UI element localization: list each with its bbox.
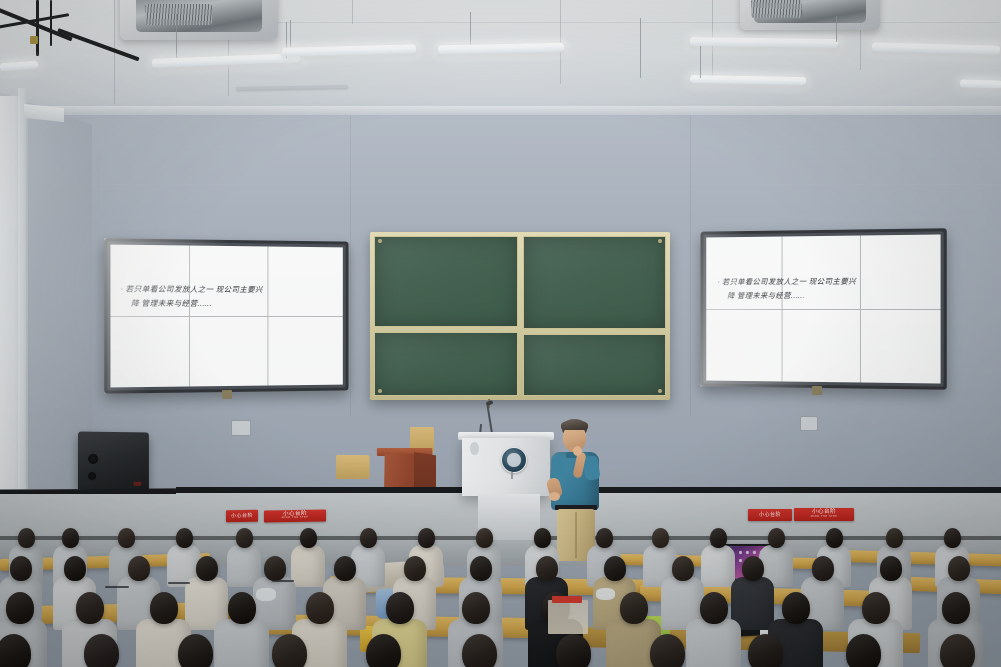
audience-member-head	[846, 634, 881, 667]
audience-member-head	[128, 556, 150, 581]
audience-member-head	[462, 592, 490, 624]
wall-seam	[98, 150, 99, 410]
video-wall-panel	[110, 245, 189, 316]
fluorescent-tube-light	[960, 79, 1001, 88]
blackboard[interactable]	[370, 232, 670, 400]
audience-member-head	[534, 528, 551, 548]
audience-member-head	[366, 634, 401, 667]
audience-member-head	[64, 556, 86, 581]
eyeglasses	[272, 580, 294, 582]
audience-member-head	[604, 556, 626, 581]
audience-member-head	[228, 592, 256, 624]
audience-member-head	[652, 528, 669, 548]
audience-member-head	[700, 592, 728, 624]
step-sign-text: 小心台阶	[759, 513, 781, 518]
presenter-hair-top	[561, 420, 588, 430]
audience-member-head	[536, 556, 558, 581]
wall-outlet-plate	[231, 420, 251, 436]
audience-member-head	[300, 528, 317, 548]
audience-member-head	[84, 634, 119, 667]
tshirt-graphic-band	[552, 596, 582, 603]
eyeglasses	[105, 586, 129, 588]
audience-member-head	[948, 556, 970, 581]
video-wall-panel	[783, 309, 860, 382]
audience-member-head	[236, 528, 253, 548]
blackboard-panel	[523, 334, 667, 397]
audience-member-head	[62, 528, 79, 548]
audience-member-head	[76, 592, 104, 624]
wall-seam	[950, 140, 951, 430]
screen-mount-bracket	[222, 390, 232, 399]
wall-seam	[350, 116, 351, 416]
mind-the-step-sign: 小心台阶 MIND THE STEP	[264, 509, 326, 522]
audience-member-head	[418, 528, 435, 548]
audience-member-body	[701, 545, 735, 587]
audience-member-head	[880, 556, 902, 581]
floor-loudspeaker	[78, 432, 149, 495]
audience-member-head	[768, 528, 785, 548]
rod-bracket	[30, 36, 38, 44]
blackboard-panel	[523, 236, 667, 329]
audience-member-head	[556, 634, 591, 667]
audience-member-head	[178, 634, 213, 667]
audience-member-head	[118, 528, 135, 548]
audience-member-head	[742, 556, 764, 581]
audience-member-head	[862, 592, 890, 624]
wall-seam	[0, 184, 1001, 185]
video-wall-panel	[861, 310, 941, 384]
audience-member-head	[462, 634, 497, 667]
audience-member-head	[812, 556, 834, 581]
blackboard-panel	[374, 236, 518, 327]
podium-knob	[470, 442, 479, 455]
audience-member-head	[748, 634, 783, 667]
video-wall-panel	[110, 317, 189, 388]
video-wall-panel	[706, 309, 781, 381]
ceiling-rod	[36, 0, 39, 56]
audience-member-body	[291, 545, 325, 587]
presenter-hand-left	[549, 492, 560, 501]
ceiling-rod	[50, 0, 52, 46]
lecture-hall-photo: · 若只单看公司发放人之一 现公司主要兴 降 管理未来与经营…… · 若只单看公…	[0, 0, 1001, 667]
audience-member-head	[196, 556, 218, 581]
audience-member-head	[18, 528, 35, 548]
trouser-crease	[575, 512, 577, 558]
audience-member-head	[360, 528, 377, 548]
audience-member-head	[886, 528, 903, 548]
audience-member-head	[404, 556, 426, 581]
audience-member-head	[476, 528, 493, 548]
audience-member-head	[150, 592, 178, 624]
audience-member-head	[672, 556, 694, 581]
tshirt-graphic-print	[548, 600, 588, 634]
left-video-wall[interactable]: · 若只单看公司发放人之一 现公司主要兴 降 管理未来与经营……	[104, 238, 348, 393]
face-mask	[256, 588, 276, 601]
wall-outlet-plate	[800, 416, 818, 431]
video-wall-panel	[190, 246, 267, 316]
video-wall-panel	[190, 316, 267, 386]
video-wall-panel	[706, 237, 781, 309]
blackboard-panel	[374, 332, 518, 396]
step-sign-subtext: MIND THE STEP	[282, 517, 309, 520]
screen-mount-bracket	[812, 386, 822, 395]
audience-member-head	[782, 592, 810, 624]
mind-the-step-sign: 小心台阶	[748, 509, 792, 521]
audience-member-head	[10, 556, 32, 581]
audience-member-head	[650, 634, 685, 667]
video-wall-panel	[783, 236, 860, 309]
face-mask	[596, 588, 615, 600]
audience-member-head	[264, 556, 286, 581]
wall-seam	[690, 116, 691, 416]
mind-the-step-sign: 小心台阶	[226, 510, 258, 523]
audience-member-head	[826, 528, 843, 548]
audience-member-head	[620, 592, 648, 624]
mind-the-step-sign: 小心台阶 MIND THE STEP	[794, 508, 854, 521]
audience-member-body	[214, 619, 269, 667]
ceiling-air-conditioner	[740, 0, 880, 30]
ceiling-seam	[352, 0, 353, 24]
audience-member-head	[596, 528, 613, 548]
ceiling-air-conditioner	[120, 0, 278, 40]
audience-member-head	[6, 592, 34, 624]
video-wall-panel	[268, 316, 343, 385]
step-sign-text: 小心台阶	[231, 513, 253, 518]
presenter-hand-right	[573, 446, 582, 456]
audience-member-head	[940, 634, 975, 667]
audience-member-head	[944, 528, 961, 548]
audience-member-head	[942, 592, 970, 624]
audience-member-head	[176, 528, 193, 548]
audience-member-head	[306, 592, 334, 624]
wall-pillar-edge	[18, 88, 28, 558]
audience-member-head	[470, 556, 492, 581]
audience-member-head	[334, 556, 356, 581]
audience-member-head	[272, 634, 307, 667]
wooden-chair-back	[336, 455, 370, 479]
step-sign-subtext: MIND THE STEP	[811, 516, 838, 519]
audience-member-body	[686, 619, 741, 667]
right-video-wall[interactable]: · 若只单看公司发放人之一 现公司主要兴 降 管理未来与经营……	[701, 228, 947, 389]
eyeglasses	[168, 582, 190, 584]
emblem-stem	[511, 472, 513, 479]
audience-member-head	[386, 592, 414, 624]
audience-member-head	[710, 528, 727, 548]
video-wall-panel	[268, 246, 343, 315]
university-crest-emblem	[501, 447, 527, 473]
video-wall-panel	[861, 234, 941, 308]
wall-cornice	[0, 106, 1001, 115]
